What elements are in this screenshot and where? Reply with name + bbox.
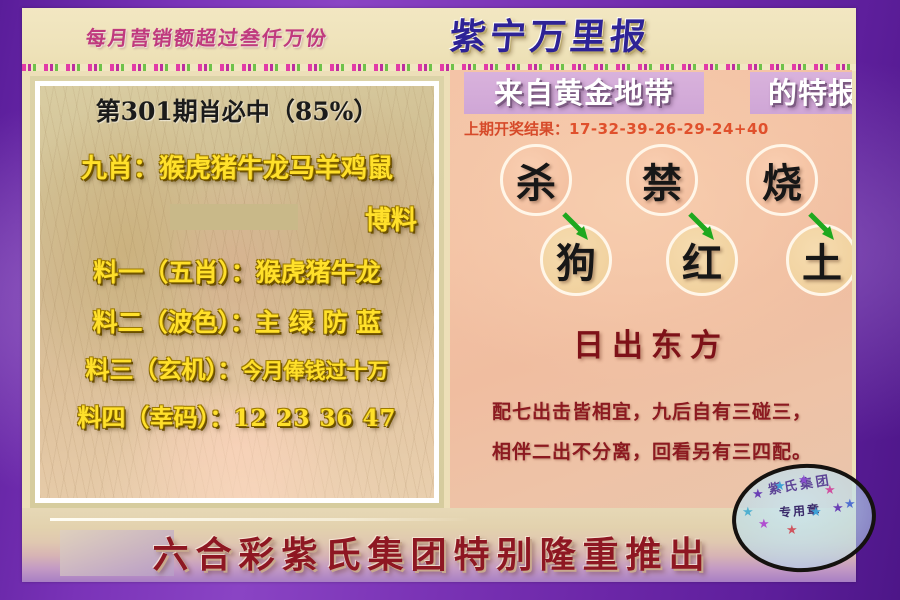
poem-line-2: 相伴二出不分离，回看另有三四配。 [456, 432, 848, 472]
bottom-banner: 六合彩紫氏集团特别隆重推出 [22, 508, 856, 582]
page-header: 每月营销额超过叁仟万份 紫宁万里报 [22, 8, 856, 70]
newspaper-page: 每月营销额超过叁仟万份 紫宁万里报 第301期肖必中（85%） 九肖：猴虎猪牛龙… [0, 0, 900, 600]
tip-2-value: 主 绿 防 蓝 [255, 308, 381, 337]
tip-1-label: 料一（五肖）： [93, 258, 256, 287]
lucky-phrase: 日出东方 [450, 320, 852, 365]
nine-zodiac-label: 九肖： [81, 154, 159, 184]
bo-liao-label: 博料 [35, 200, 439, 237]
tip-row-3: 料三（玄机）：今月俸钱过十万 [35, 350, 439, 385]
last-draw-label: 上期开奖结果： [464, 120, 569, 138]
poem-line-1: 配七出击皆相宜，九后自有三碰三， [456, 392, 848, 432]
right-header-left: 来自黄金地带 [464, 72, 704, 114]
nine-zodiac-value: 猴虎猪牛龙马羊鸡鼠 [159, 154, 393, 184]
tip-row-4: 料四（幸码）：12 23 36 47 [35, 398, 439, 433]
tip-4-value: 12 23 36 47 [233, 405, 396, 432]
tip-row-1: 料一（五肖）：猴虎猪牛龙 [35, 253, 439, 289]
kill-circle-3: 烧 [746, 144, 818, 216]
tip-row-2: 料二（波色）：主 绿 防 蓝 [35, 303, 439, 339]
issue-title-line: 第301期肖必中（85%） [35, 92, 439, 128]
issue-highlight: 肖必中 [198, 97, 270, 126]
right-header-right: 的特报 [750, 72, 852, 114]
right-panel: 来自黄金地带 的特报 上期开奖结果：17-32-39-26-29-24+40 杀… [450, 70, 852, 508]
tip-3-value: 今月俸钱过十万 [242, 358, 389, 383]
arrow-down-right-icon-1 [558, 208, 600, 250]
arrow-down-right-icon-2 [684, 208, 726, 250]
last-draw-result: 上期开奖结果：17-32-39-26-29-24+40 [464, 118, 852, 139]
arrow-down-right-icon-3 [804, 208, 846, 250]
tip-4-label: 料四（幸码）： [77, 403, 233, 432]
background-photo [35, 81, 439, 503]
accuracy-percent: （85%） [270, 97, 379, 126]
page-title: 紫宁万里报 [408, 11, 693, 63]
tip-3-label: 料三（玄机）： [86, 355, 242, 384]
banner-text: 六合彩紫氏集团特别隆重推出 [22, 526, 842, 578]
banner-rule [50, 518, 470, 521]
kill-circle-2: 禁 [626, 144, 698, 216]
tip-1-value: 猴虎猪牛龙 [256, 258, 381, 287]
kill-circle-1: 杀 [500, 144, 572, 216]
paper-sheet: 每月营销额超过叁仟万份 紫宁万里报 第301期肖必中（85%） 九肖：猴虎猪牛龙… [22, 8, 856, 582]
nine-zodiac-line: 九肖：猴虎猪牛龙马羊鸡鼠 [35, 148, 439, 185]
header-slogan: 每月营销额超过叁仟万份 [22, 20, 404, 56]
last-draw-numbers: 17-32-39-26-29-24+40 [569, 120, 769, 138]
poem-block: 配七出击皆相宜，九后自有三碰三， 相伴二出不分离，回看另有三四配。 [456, 392, 848, 472]
issue-label: 第301期 [96, 97, 198, 126]
tip-2-label: 料二（波色）： [93, 308, 256, 337]
